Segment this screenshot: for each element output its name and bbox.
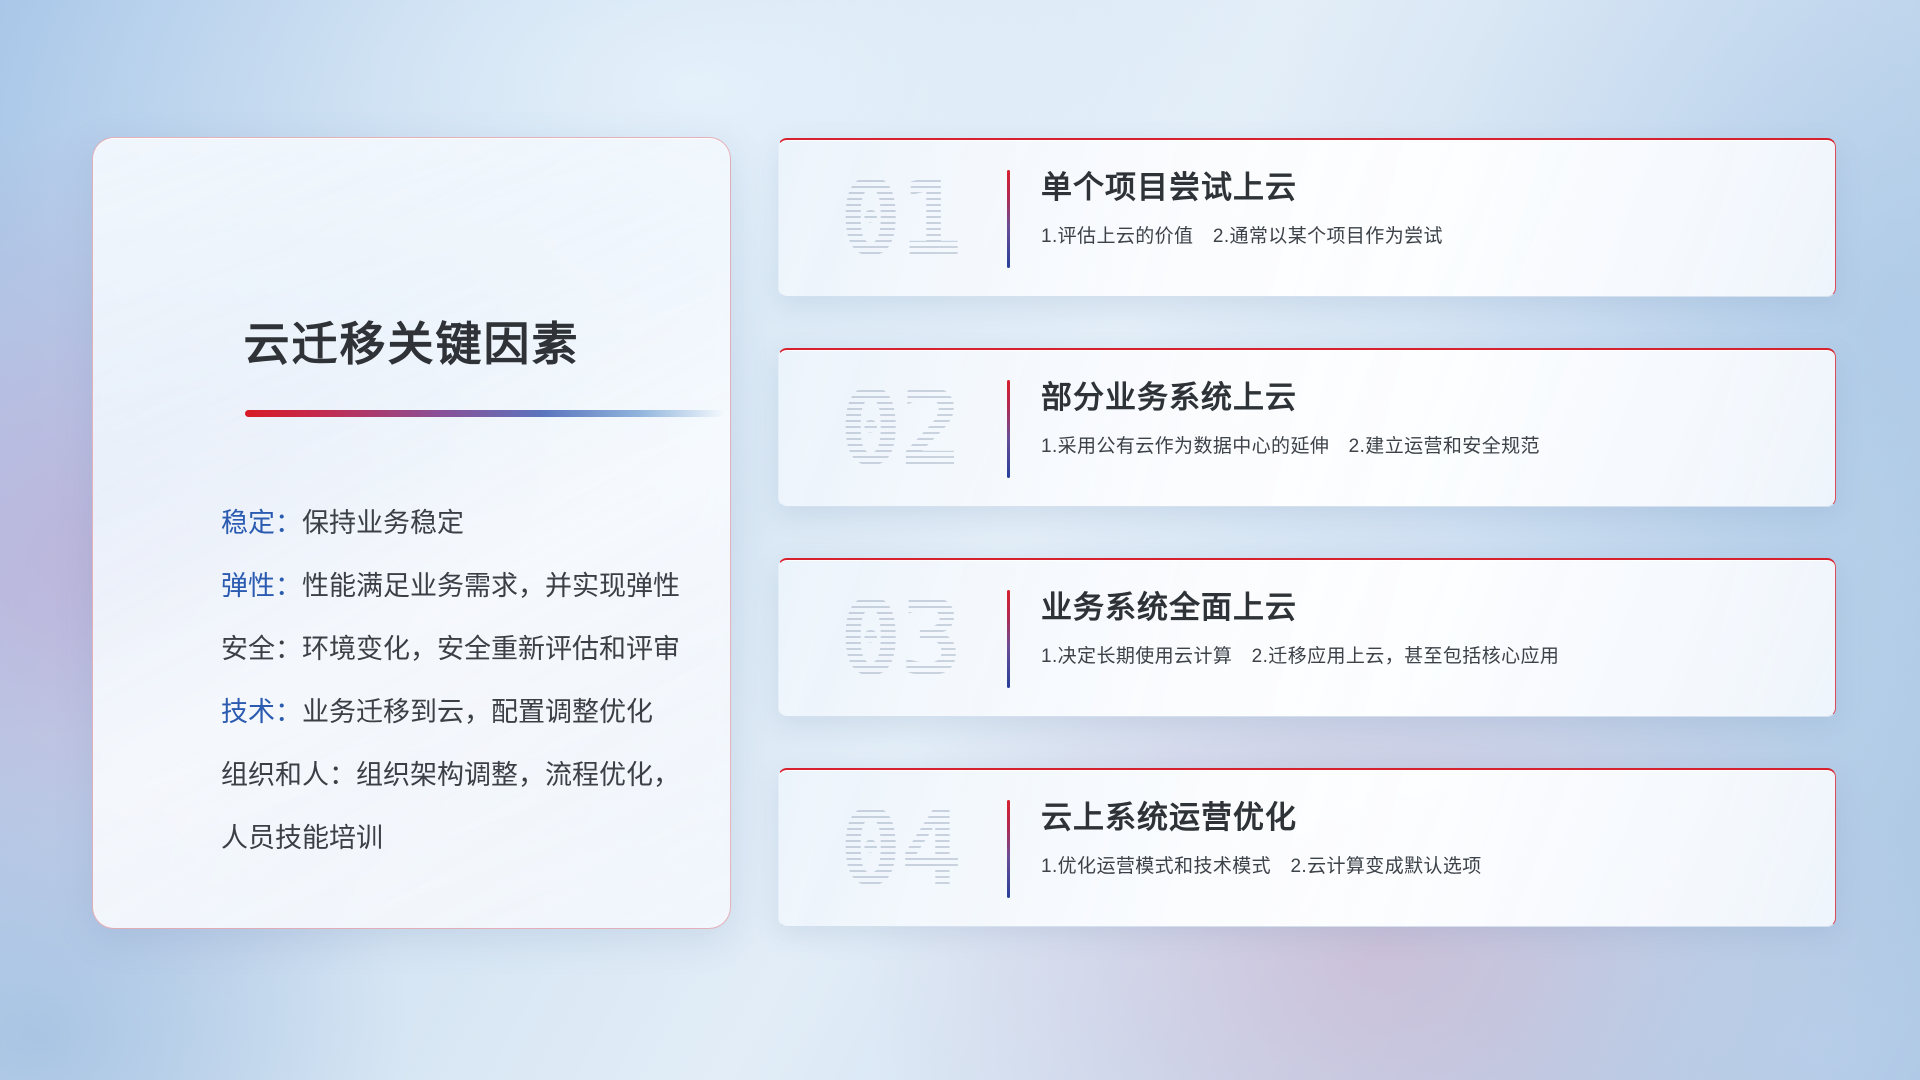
stage-number-03: 03 (805, 576, 995, 700)
factor-item-security: 安全：环境变化，安全重新评估和评审 (221, 649, 690, 650)
stage-text-block: 云上系统运营优化 1.优化运营模式和技术模式 2.云计算变成默认选项 (1041, 792, 1805, 878)
stage-card-01[interactable]: 01 单个项目尝试上云 1.评估上云的价值 2.通常以某个项目作为尝试 (778, 138, 1836, 297)
stage-title: 云上系统运营优化 (1041, 792, 1805, 837)
factor-value: 组织架构调整，流程优化， (356, 760, 680, 790)
factor-item-organization: 组织和人：组织架构调整，流程优化， (221, 775, 690, 776)
stage-body: 1.评估上云的价值 2.通常以某个项目作为尝试 (1041, 221, 1805, 248)
stage-card-04[interactable]: 04 云上系统运营优化 1.优化运营模式和技术模式 2.云计算变成默认选项 (778, 768, 1836, 927)
slide-stage: 云迁移关键因素 稳定：保持业务稳定 弹性：性能满足业务需求，并实现弹性 安全：环… (0, 0, 1920, 1080)
factor-value: 环境变化，安全重新评估和评审 (302, 634, 680, 664)
stage-title: 单个项目尝试上云 (1041, 162, 1805, 207)
factor-value: 性能满足业务需求，并实现弹性 (302, 571, 680, 601)
factor-value: 业务迁移到云，配置调整优化 (302, 697, 653, 727)
stage-body: 1.决定长期使用云计算 2.迁移应用上云，甚至包括核心应用 (1041, 641, 1805, 668)
stage-text-block: 单个项目尝试上云 1.评估上云的价值 2.通常以某个项目作为尝试 (1041, 162, 1805, 248)
stage-body: 1.采用公有云作为数据中心的延伸 2.建立运营和安全规范 (1041, 431, 1805, 458)
factor-list: 稳定：保持业务稳定 弹性：性能满足业务需求，并实现弹性 安全：环境变化，安全重新… (221, 523, 690, 901)
factor-label: 弹性： (221, 571, 302, 601)
title-underline-accent (245, 410, 725, 417)
stage-number-04: 04 (805, 786, 995, 910)
factor-value: 人员技能培训 (221, 823, 383, 853)
stage-title: 业务系统全面上云 (1041, 582, 1805, 627)
stage-card-02[interactable]: 02 部分业务系统上云 1.采用公有云作为数据中心的延伸 2.建立运营和安全规范 (778, 348, 1836, 507)
factor-value: 保持业务稳定 (302, 508, 464, 538)
factor-label: 安全： (221, 634, 302, 664)
accent-bar (1007, 590, 1010, 688)
factor-label: 稳定： (221, 508, 302, 538)
stage-number-01: 01 (805, 156, 995, 280)
stage-text-block: 业务系统全面上云 1.决定长期使用云计算 2.迁移应用上云，甚至包括核心应用 (1041, 582, 1805, 668)
accent-bar (1007, 380, 1010, 478)
key-factors-panel: 云迁移关键因素 稳定：保持业务稳定 弹性：性能满足业务需求，并实现弹性 安全：环… (92, 137, 731, 929)
factor-item-stability: 稳定：保持业务稳定 (221, 523, 690, 524)
page-title: 云迁移关键因素 (93, 308, 730, 374)
factor-label: 组织和人： (221, 760, 356, 790)
stage-text-block: 部分业务系统上云 1.采用公有云作为数据中心的延伸 2.建立运营和安全规范 (1041, 372, 1805, 458)
factor-label: 技术： (221, 697, 302, 727)
stage-body: 1.优化运营模式和技术模式 2.云计算变成默认选项 (1041, 851, 1805, 878)
stage-number-02: 02 (805, 366, 995, 490)
factor-item-technology: 技术：业务迁移到云，配置调整优化 (221, 712, 690, 713)
accent-bar (1007, 170, 1010, 268)
stage-card-03[interactable]: 03 业务系统全面上云 1.决定长期使用云计算 2.迁移应用上云，甚至包括核心应… (778, 558, 1836, 717)
stage-title: 部分业务系统上云 (1041, 372, 1805, 417)
factor-item-organization-cont: 人员技能培训 (221, 838, 690, 839)
accent-bar (1007, 800, 1010, 898)
factor-item-elasticity: 弹性：性能满足业务需求，并实现弹性 (221, 586, 690, 587)
